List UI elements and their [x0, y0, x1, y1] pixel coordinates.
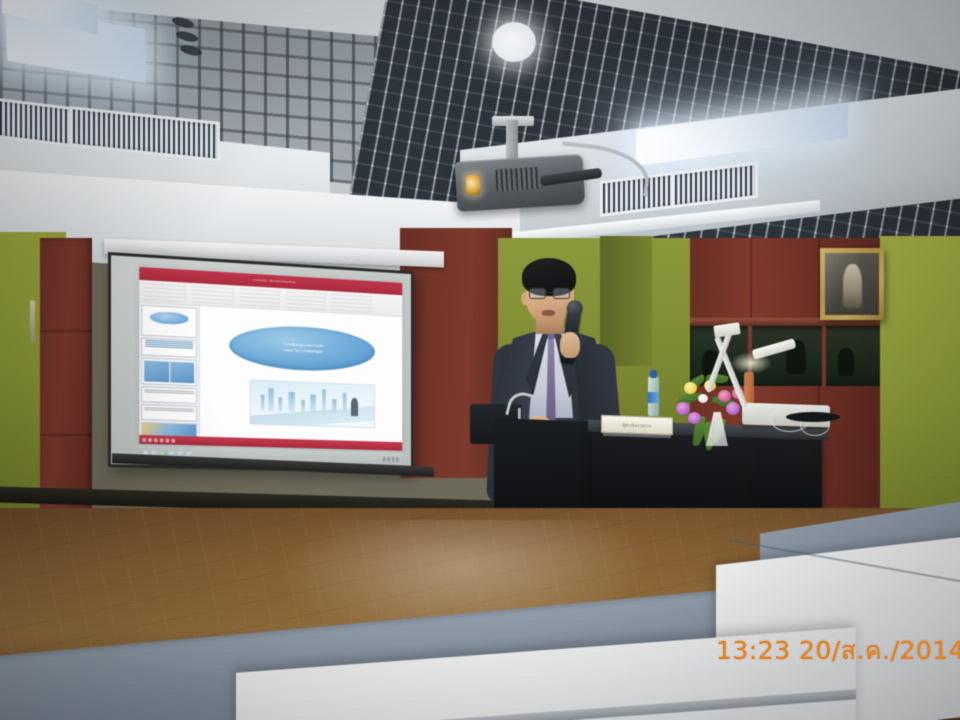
projector-lens [465, 174, 480, 195]
door-handle[interactable] [30, 300, 35, 342]
presenter-right-hand [560, 332, 580, 358]
slide-thumbnail[interactable] [141, 338, 196, 359]
head-table-left-section [494, 418, 598, 518]
wall-olive-green-right [880, 236, 960, 536]
water-bottle-cap [650, 370, 657, 378]
wood-panel-door [40, 238, 92, 520]
pull-down-projection-screen: การนำเสนอ - Microsoft PowerPoint [108, 252, 414, 474]
camera-timestamp-overlay: 13:23 20/ส.ค./2014 [716, 631, 960, 671]
name-plate-text: ผู้ดำเนินรายการ [623, 421, 652, 429]
slide-city-skyline-image [250, 379, 375, 428]
slide-title-oval: การเงินที่ยอมผู้ประกอบการธุรกิจ (SMEs) ใ… [229, 324, 375, 374]
black-cable [786, 412, 840, 422]
visualizer-lamp-glow [730, 352, 772, 374]
slide-thumbnail-pane[interactable] [139, 302, 199, 443]
projector-vent [495, 167, 540, 192]
projector-ceiling-mount [506, 120, 518, 160]
name-plate-sign: ผู้ดำเนินรายการ [601, 415, 673, 436]
powerpoint-window: การนำเสนอ - Microsoft PowerPoint [139, 267, 402, 448]
water-bottle-label [648, 392, 659, 403]
slide-thumbnail[interactable] [141, 358, 196, 386]
conference-room-photo: การนำเสนอ - Microsoft PowerPoint [0, 0, 960, 720]
powerpoint-title-text: การนำเสนอ - Microsoft PowerPoint [253, 278, 296, 284]
slide-thumbnail[interactable] [141, 386, 196, 404]
system-tray[interactable] [383, 457, 399, 462]
slide-title-line-2: (SMEs) ในภาวะวิกฤตเศรษฐกิจ [284, 349, 323, 355]
eyeglasses [528, 288, 574, 300]
slide-editing-area: การเงินที่ยอมผู้ประกอบการธุรกิจ (SMEs) ใ… [200, 305, 403, 448]
dome-light [492, 22, 536, 62]
slide-thumbnail[interactable] [141, 304, 196, 338]
slide-businessman-silhouette [351, 398, 358, 417]
slide-thumbnail[interactable] [141, 404, 196, 422]
portrait-glass-glare [825, 253, 879, 315]
framed-portrait-on-wall [820, 248, 884, 320]
